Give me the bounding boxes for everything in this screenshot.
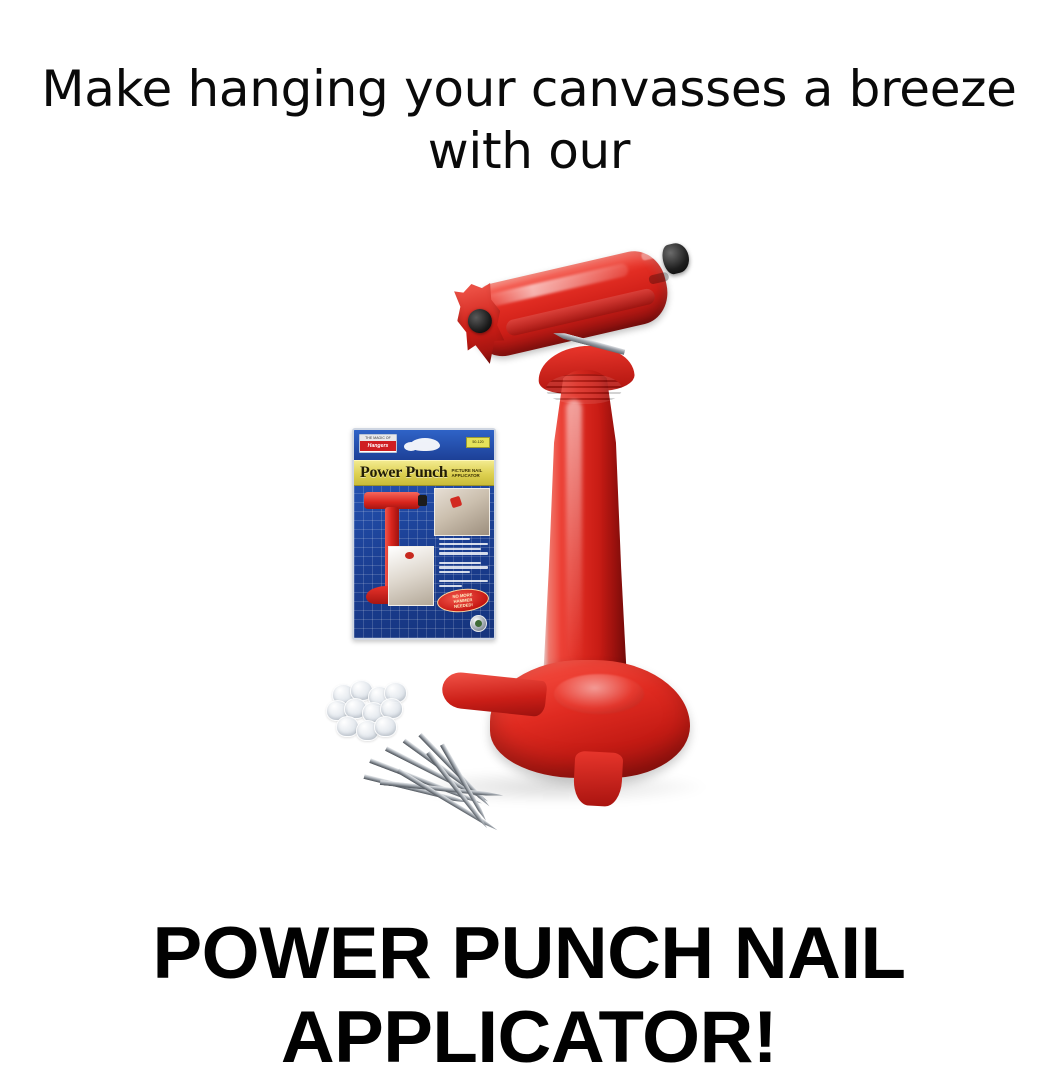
- tool-handle: [441, 227, 690, 386]
- tool-shaft-rings: [546, 374, 622, 404]
- product-photo: THE MAGIC OF Hangers 50-120 Power Punch …: [310, 250, 750, 830]
- poster-canvas: Make hanging your canvasses a breeze wit…: [0, 0, 1058, 1058]
- tool-black-end-cap: [660, 241, 692, 276]
- tool-base-foot: [573, 751, 624, 807]
- product-name-caption: POWER PUNCH NAIL APPLICATOR!: [0, 912, 1058, 1080]
- tool-handle-notch: [641, 250, 658, 261]
- tool-base-dish: [554, 674, 644, 714]
- page-title: Make hanging your canvasses a breeze wit…: [0, 58, 1058, 182]
- hook-pile: [326, 678, 422, 762]
- plastic-hook: [374, 716, 397, 737]
- tool-shaft-highlight: [566, 400, 582, 670]
